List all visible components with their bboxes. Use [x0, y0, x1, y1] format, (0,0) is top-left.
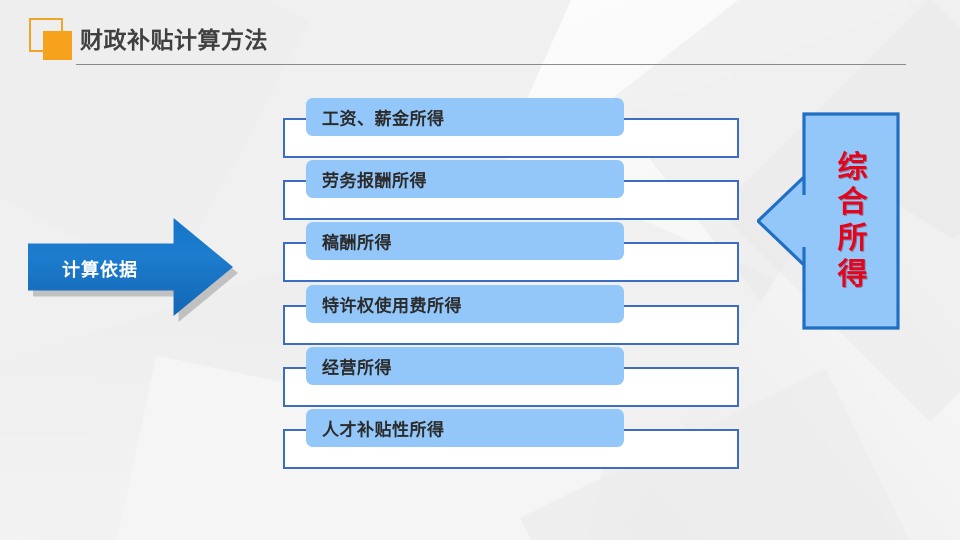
- comprehensive-income-arrow[interactable]: 综合所得: [757, 111, 900, 331]
- comprehensive-income-char: 合: [838, 186, 868, 220]
- row-highlight-box[interactable]: 经营所得: [306, 347, 624, 385]
- row-highlight-box[interactable]: 劳务报酬所得: [306, 160, 624, 198]
- row-label: 工资、薪金所得: [322, 105, 445, 130]
- row-highlight-box[interactable]: 特许权使用费所得: [306, 285, 624, 323]
- row-highlight-box[interactable]: 人才补贴性所得: [306, 409, 624, 447]
- row-label: 经营所得: [322, 353, 392, 378]
- row-highlight-box[interactable]: 稿酬所得: [306, 222, 624, 260]
- comprehensive-income-char: 所: [838, 222, 868, 256]
- row-label: 特许权使用费所得: [322, 291, 462, 316]
- comprehensive-income-label: 综合所得: [805, 111, 900, 331]
- row-label: 稿酬所得: [322, 229, 392, 254]
- row-highlight-box[interactable]: 工资、薪金所得: [306, 98, 624, 136]
- comprehensive-income-char: 得: [838, 258, 868, 292]
- slide-canvas: 财政补贴计算方法 计算依据 工资、薪金所得劳务报酬所得稿酬所得特许权使用费所得经…: [0, 0, 960, 540]
- row-label: 劳务报酬所得: [322, 167, 427, 192]
- row-label: 人才补贴性所得: [322, 416, 445, 441]
- comprehensive-income-char: 综: [838, 151, 868, 185]
